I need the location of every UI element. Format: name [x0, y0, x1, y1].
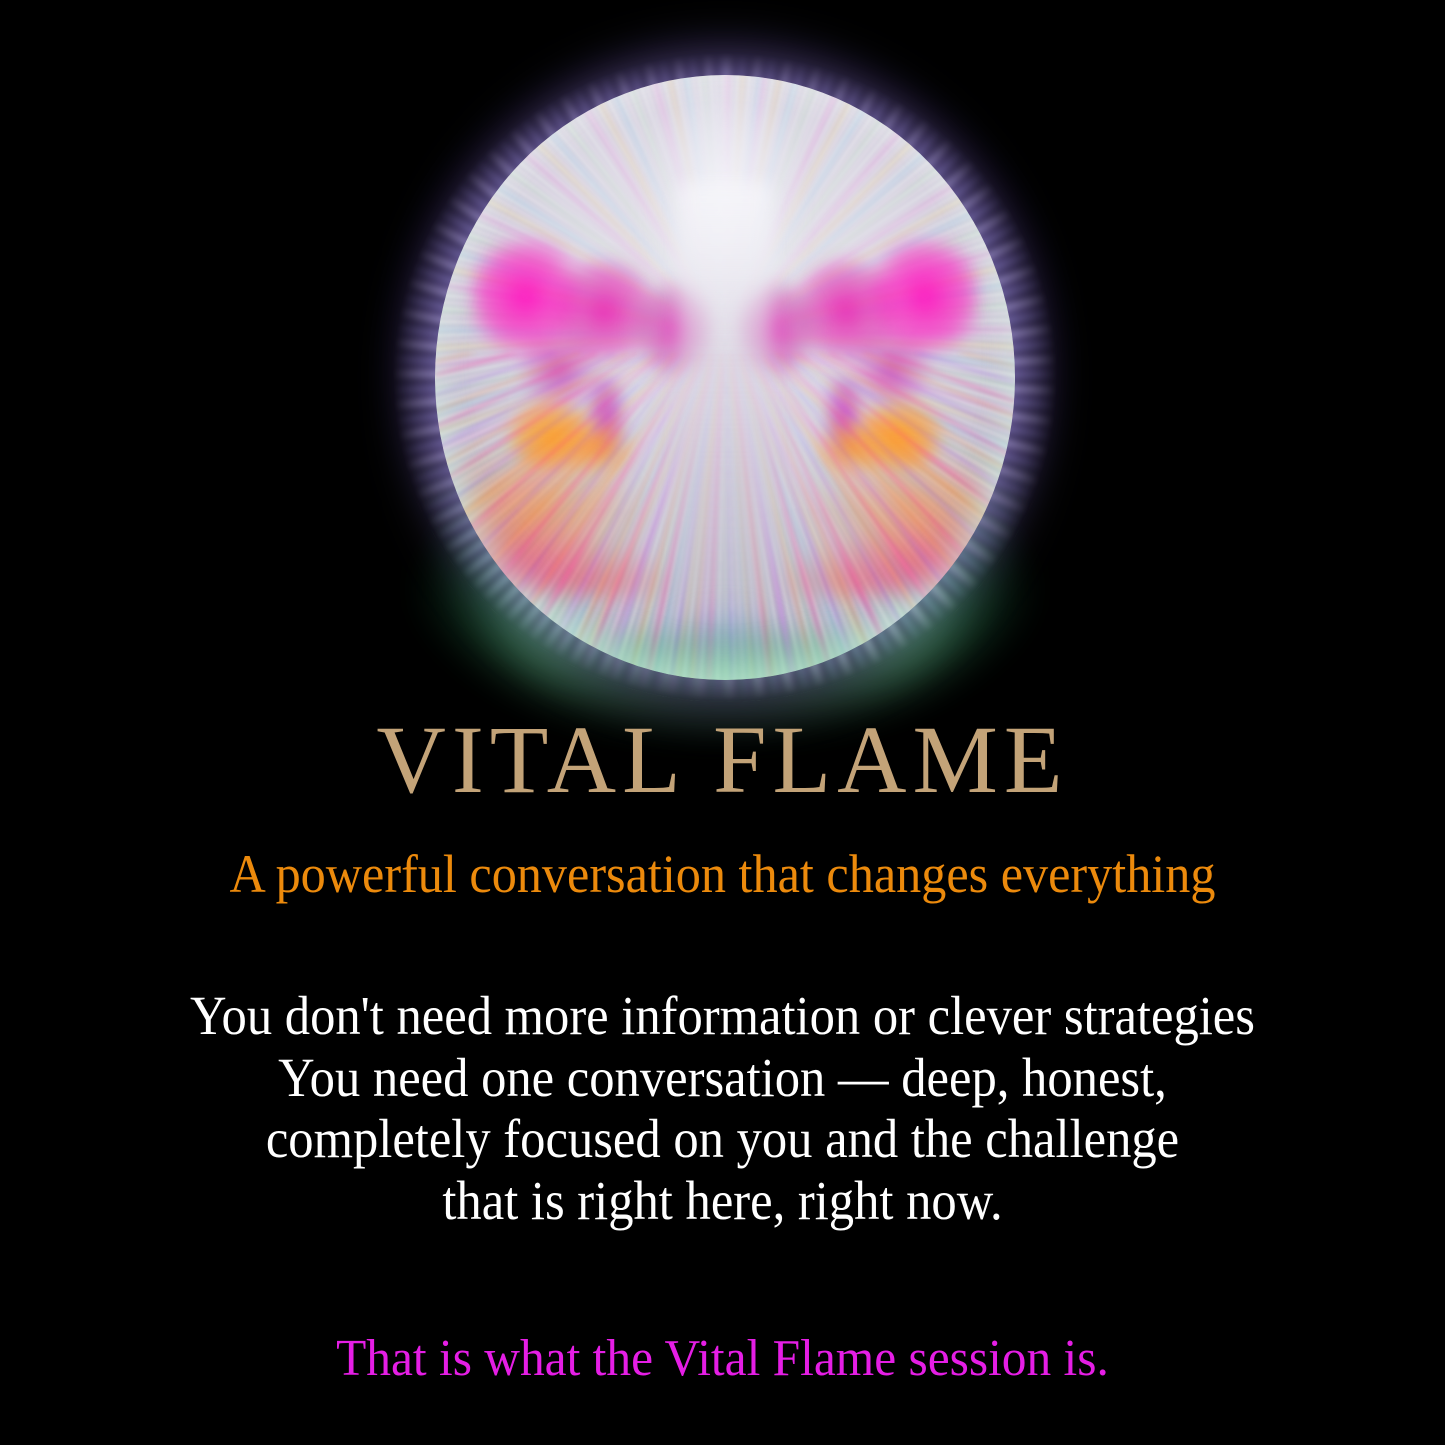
page-subtitle: A powerful conversation that changes eve…: [51, 845, 1395, 904]
body-line-2: You need one conversation — deep, honest…: [58, 1047, 1387, 1109]
body-copy: You don't need more information or cleve…: [0, 985, 1445, 1231]
body-line-3: completely focused on you and the challe…: [58, 1108, 1387, 1170]
vital-flame-orb-artwork: [370, 40, 1080, 720]
orb-disc: [435, 75, 1015, 680]
orb-rim-light: [435, 75, 1015, 680]
page-title: VITAL FLAME: [0, 712, 1445, 808]
poster-canvas: VITAL FLAME A powerful conversation that…: [0, 0, 1445, 1445]
closing-statement: That is what the Vital Flame session is.: [36, 1330, 1409, 1387]
body-line-4: that is right here, right now.: [58, 1170, 1387, 1232]
body-line-1: You don't need more information or cleve…: [58, 985, 1387, 1047]
